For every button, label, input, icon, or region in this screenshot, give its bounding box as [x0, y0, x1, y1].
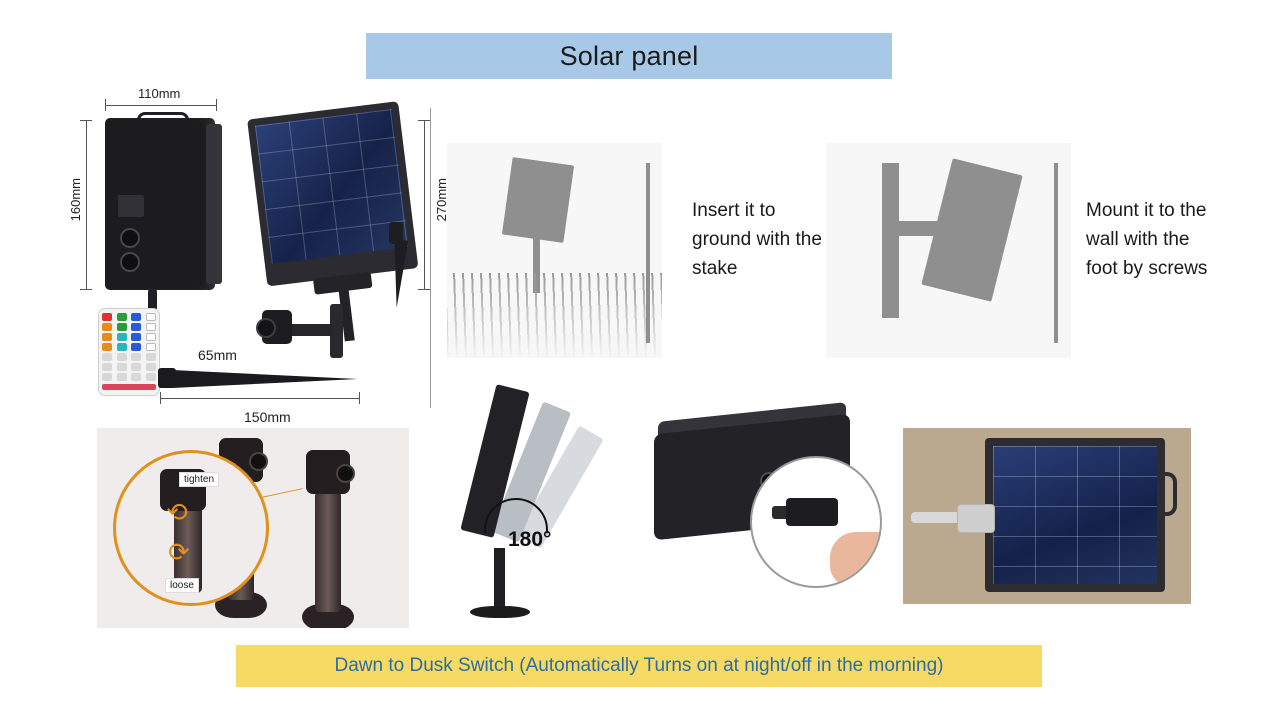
rotate-arrow-up-icon: ⟲ [166, 499, 188, 525]
solar-panel-assembly [247, 98, 449, 309]
slide-canvas: Solar panel 110mm 160mm [0, 0, 1280, 720]
wall-photo-panel [921, 158, 1022, 302]
battery-box-panel-detail [118, 195, 144, 217]
slide-title-band: Solar panel [366, 33, 892, 79]
diagram-divider [430, 108, 431, 408]
dim-tick-right [216, 99, 217, 111]
lamp-base [470, 606, 530, 618]
battery-box-port-2 [120, 252, 140, 272]
photo-180-degree: 180° [460, 368, 635, 624]
table-panel-frame [985, 438, 1165, 592]
photo-wall-install [826, 143, 1071, 358]
lamp-stem [494, 548, 505, 610]
bracket-arm [286, 324, 334, 336]
dim-tick-panel-bottom [418, 289, 430, 290]
photo-tighten-loose: ⟲ ⟳ tighten loose [97, 428, 409, 628]
dim-line-spike [160, 398, 360, 399]
photo-ground-install [447, 143, 662, 358]
dim-tick-top [80, 120, 92, 121]
solar-panel-cells [255, 109, 409, 264]
photo-plug-detail [640, 368, 898, 624]
dim-label-110mm: 110mm [138, 86, 180, 101]
label-tighten: tighten [179, 472, 219, 487]
page-title: Solar panel [560, 41, 699, 72]
dim-tick-bottom [80, 289, 92, 290]
dim-tick-spike-right [359, 392, 360, 404]
plug-connector [786, 498, 838, 526]
dim-label-65mm: 65mm [198, 347, 237, 363]
caption-ground-install: Insert it to ground with the stake [692, 196, 822, 283]
mounting-bracket [246, 300, 366, 362]
table-panel-plug [957, 504, 995, 533]
ground-photo-grass [447, 273, 662, 358]
tighten-photo-fixture-2 [302, 450, 354, 628]
battery-box-port-1 [120, 228, 140, 248]
footer-text: Dawn to Dusk Switch (Automatically Turns… [335, 655, 944, 677]
wall-photo-rod [1054, 163, 1058, 343]
angle-label: 180° [508, 528, 551, 552]
wall-photo-post [882, 163, 899, 318]
ground-photo-panel [502, 157, 574, 243]
dim-line-width [105, 105, 217, 106]
dim-label-150mm: 150mm [244, 409, 291, 425]
plug-zoom-circle [750, 456, 882, 588]
dim-line-panel-height [424, 120, 425, 290]
remote-control [98, 308, 160, 396]
fixture-knob [249, 452, 268, 471]
battery-box-side [206, 124, 222, 284]
bracket-knob [256, 318, 276, 338]
table-panel-cells [993, 446, 1157, 584]
fixture-knob-2 [336, 464, 355, 483]
photo-panel-on-table [903, 428, 1191, 604]
footer-band: Dawn to Dusk Switch (Automatically Turns… [236, 645, 1042, 687]
rotate-arrow-down-icon: ⟳ [168, 539, 190, 565]
hand-holding-plug [830, 532, 882, 586]
caption-wall-install: Mount it to the wall with the foot by sc… [1086, 196, 1216, 283]
dim-line-height [86, 120, 87, 290]
label-loose: loose [165, 578, 199, 593]
dim-tick-panel-top [418, 120, 430, 121]
ground-photo-rod [646, 163, 650, 343]
dim-tick-spike-left [160, 392, 161, 404]
dim-tick-left [105, 99, 106, 111]
ground-spike [172, 370, 358, 388]
dim-label-160mm: 160mm [68, 178, 83, 221]
fixture-column-2 [315, 492, 341, 612]
